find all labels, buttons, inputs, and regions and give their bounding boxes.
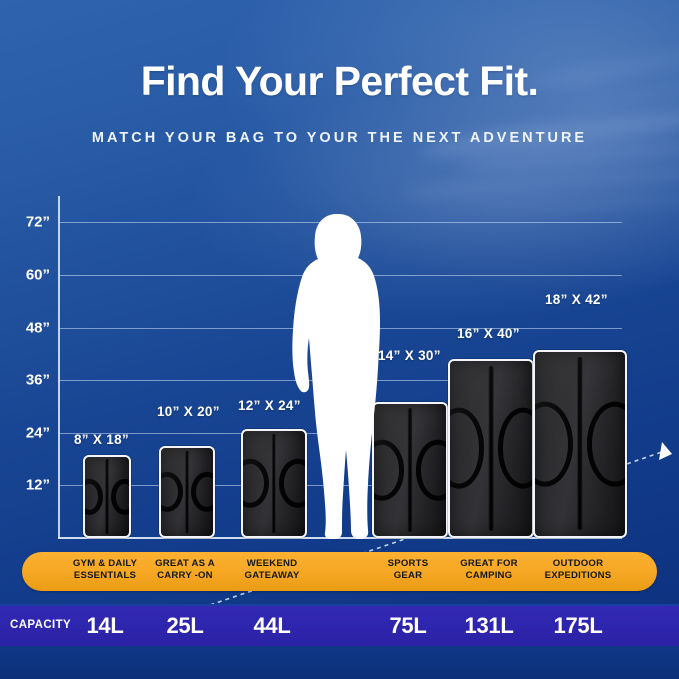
human-silhouette-icon <box>281 212 399 540</box>
bag-arc-right <box>191 472 215 512</box>
y-axis-tick-label: 12” <box>26 477 50 494</box>
bag-dimension-label: 12” X 24” <box>238 398 301 413</box>
page-title: Find Your Perfect Fit. <box>0 58 679 105</box>
y-axis-tick-label: 24” <box>26 424 50 441</box>
category-label: SPORTSGEAR <box>388 558 429 583</box>
category-line-2: ESSENTIALS <box>74 570 136 581</box>
category-label: GREAT AS ACARRY -ON <box>155 558 215 583</box>
bag-bar[interactable] <box>448 363 530 538</box>
capacity-banner: CAPACITY 14L25L44L75L131L175L <box>0 604 679 650</box>
bag-arc-right <box>498 408 534 489</box>
category-line-1: OUTDOOR <box>553 558 603 569</box>
category-line-1: GYM & DAILY <box>73 558 137 569</box>
bag-icon <box>83 455 131 538</box>
bag-dimension-label: 10” X 20” <box>157 404 220 419</box>
bag-arc-left <box>448 408 484 489</box>
bag-strap <box>105 459 109 533</box>
category-line-2: GEAR <box>394 570 423 581</box>
capacity-value: 14L <box>86 613 123 639</box>
y-axis-tick-label: 60” <box>26 266 50 283</box>
bag-dimension-label: 16” X 40” <box>457 326 520 341</box>
bag-icon <box>448 359 534 538</box>
bag-arc-left <box>241 459 269 507</box>
capacity-value: 175L <box>554 613 603 639</box>
category-line-2: CAMPING <box>466 570 513 581</box>
capacity-value: 25L <box>166 613 203 639</box>
bag-strap <box>272 434 276 533</box>
bag-strap <box>407 408 412 532</box>
category-label: OUTDOOREXPEDITIONS <box>545 558 612 583</box>
bag-arc-right <box>416 440 448 501</box>
category-line-2: CARRY -ON <box>157 570 213 581</box>
y-axis-tick-label: 48” <box>26 319 50 336</box>
category-line-2: GATEAWAY <box>245 570 300 581</box>
bag-icon <box>159 446 215 538</box>
y-axis-line <box>58 196 60 538</box>
bag-dimension-label: 18” X 42” <box>545 292 608 307</box>
bag-dimension-label: 14” X 30” <box>378 348 441 363</box>
bag-arc-left <box>533 402 573 487</box>
bag-arc-right <box>587 402 627 487</box>
bag-bar[interactable] <box>83 459 127 538</box>
category-banner: GYM & DAILYESSENTIALSGREAT AS ACARRY -ON… <box>22 552 657 591</box>
category-label: GREAT FORCAMPING <box>460 558 518 583</box>
bag-strap <box>577 357 583 530</box>
bag-arc-left <box>159 472 183 512</box>
category-line-1: GREAT FOR <box>460 558 518 569</box>
bag-icon <box>533 350 627 538</box>
bag-arc-left <box>83 478 103 514</box>
bag-arc-right <box>111 478 131 514</box>
bag-strap <box>185 451 189 533</box>
category-label: GYM & DAILYESSENTIALS <box>73 558 137 583</box>
capacity-value: 131L <box>465 613 514 639</box>
page-subtitle: MATCH YOUR BAG TO YOUR THE NEXT ADVENTUR… <box>0 130 679 146</box>
category-line-1: GREAT AS A <box>155 558 215 569</box>
infographic-canvas: Find Your Perfect Fit. MATCH YOUR BAG TO… <box>0 0 679 679</box>
capacity-label: CAPACITY <box>10 619 71 631</box>
bottom-strip <box>0 646 679 679</box>
category-line-1: WEEKEND <box>247 558 297 569</box>
capacity-value: 44L <box>253 613 290 639</box>
bag-bar[interactable] <box>533 354 623 538</box>
y-axis-labels: 12”24”36”48”60”72” <box>0 196 50 538</box>
y-axis-tick-label: 36” <box>26 372 50 389</box>
category-label: WEEKENDGATEAWAY <box>245 558 300 583</box>
y-axis-tick-label: 72” <box>26 214 50 231</box>
capacity-value: 75L <box>389 613 426 639</box>
category-line-2: EXPEDITIONS <box>545 570 612 581</box>
bag-dimension-label: 8” X 18” <box>74 432 129 447</box>
bag-bar[interactable] <box>159 450 211 538</box>
bag-strap <box>488 366 494 531</box>
category-line-1: SPORTS <box>388 558 429 569</box>
